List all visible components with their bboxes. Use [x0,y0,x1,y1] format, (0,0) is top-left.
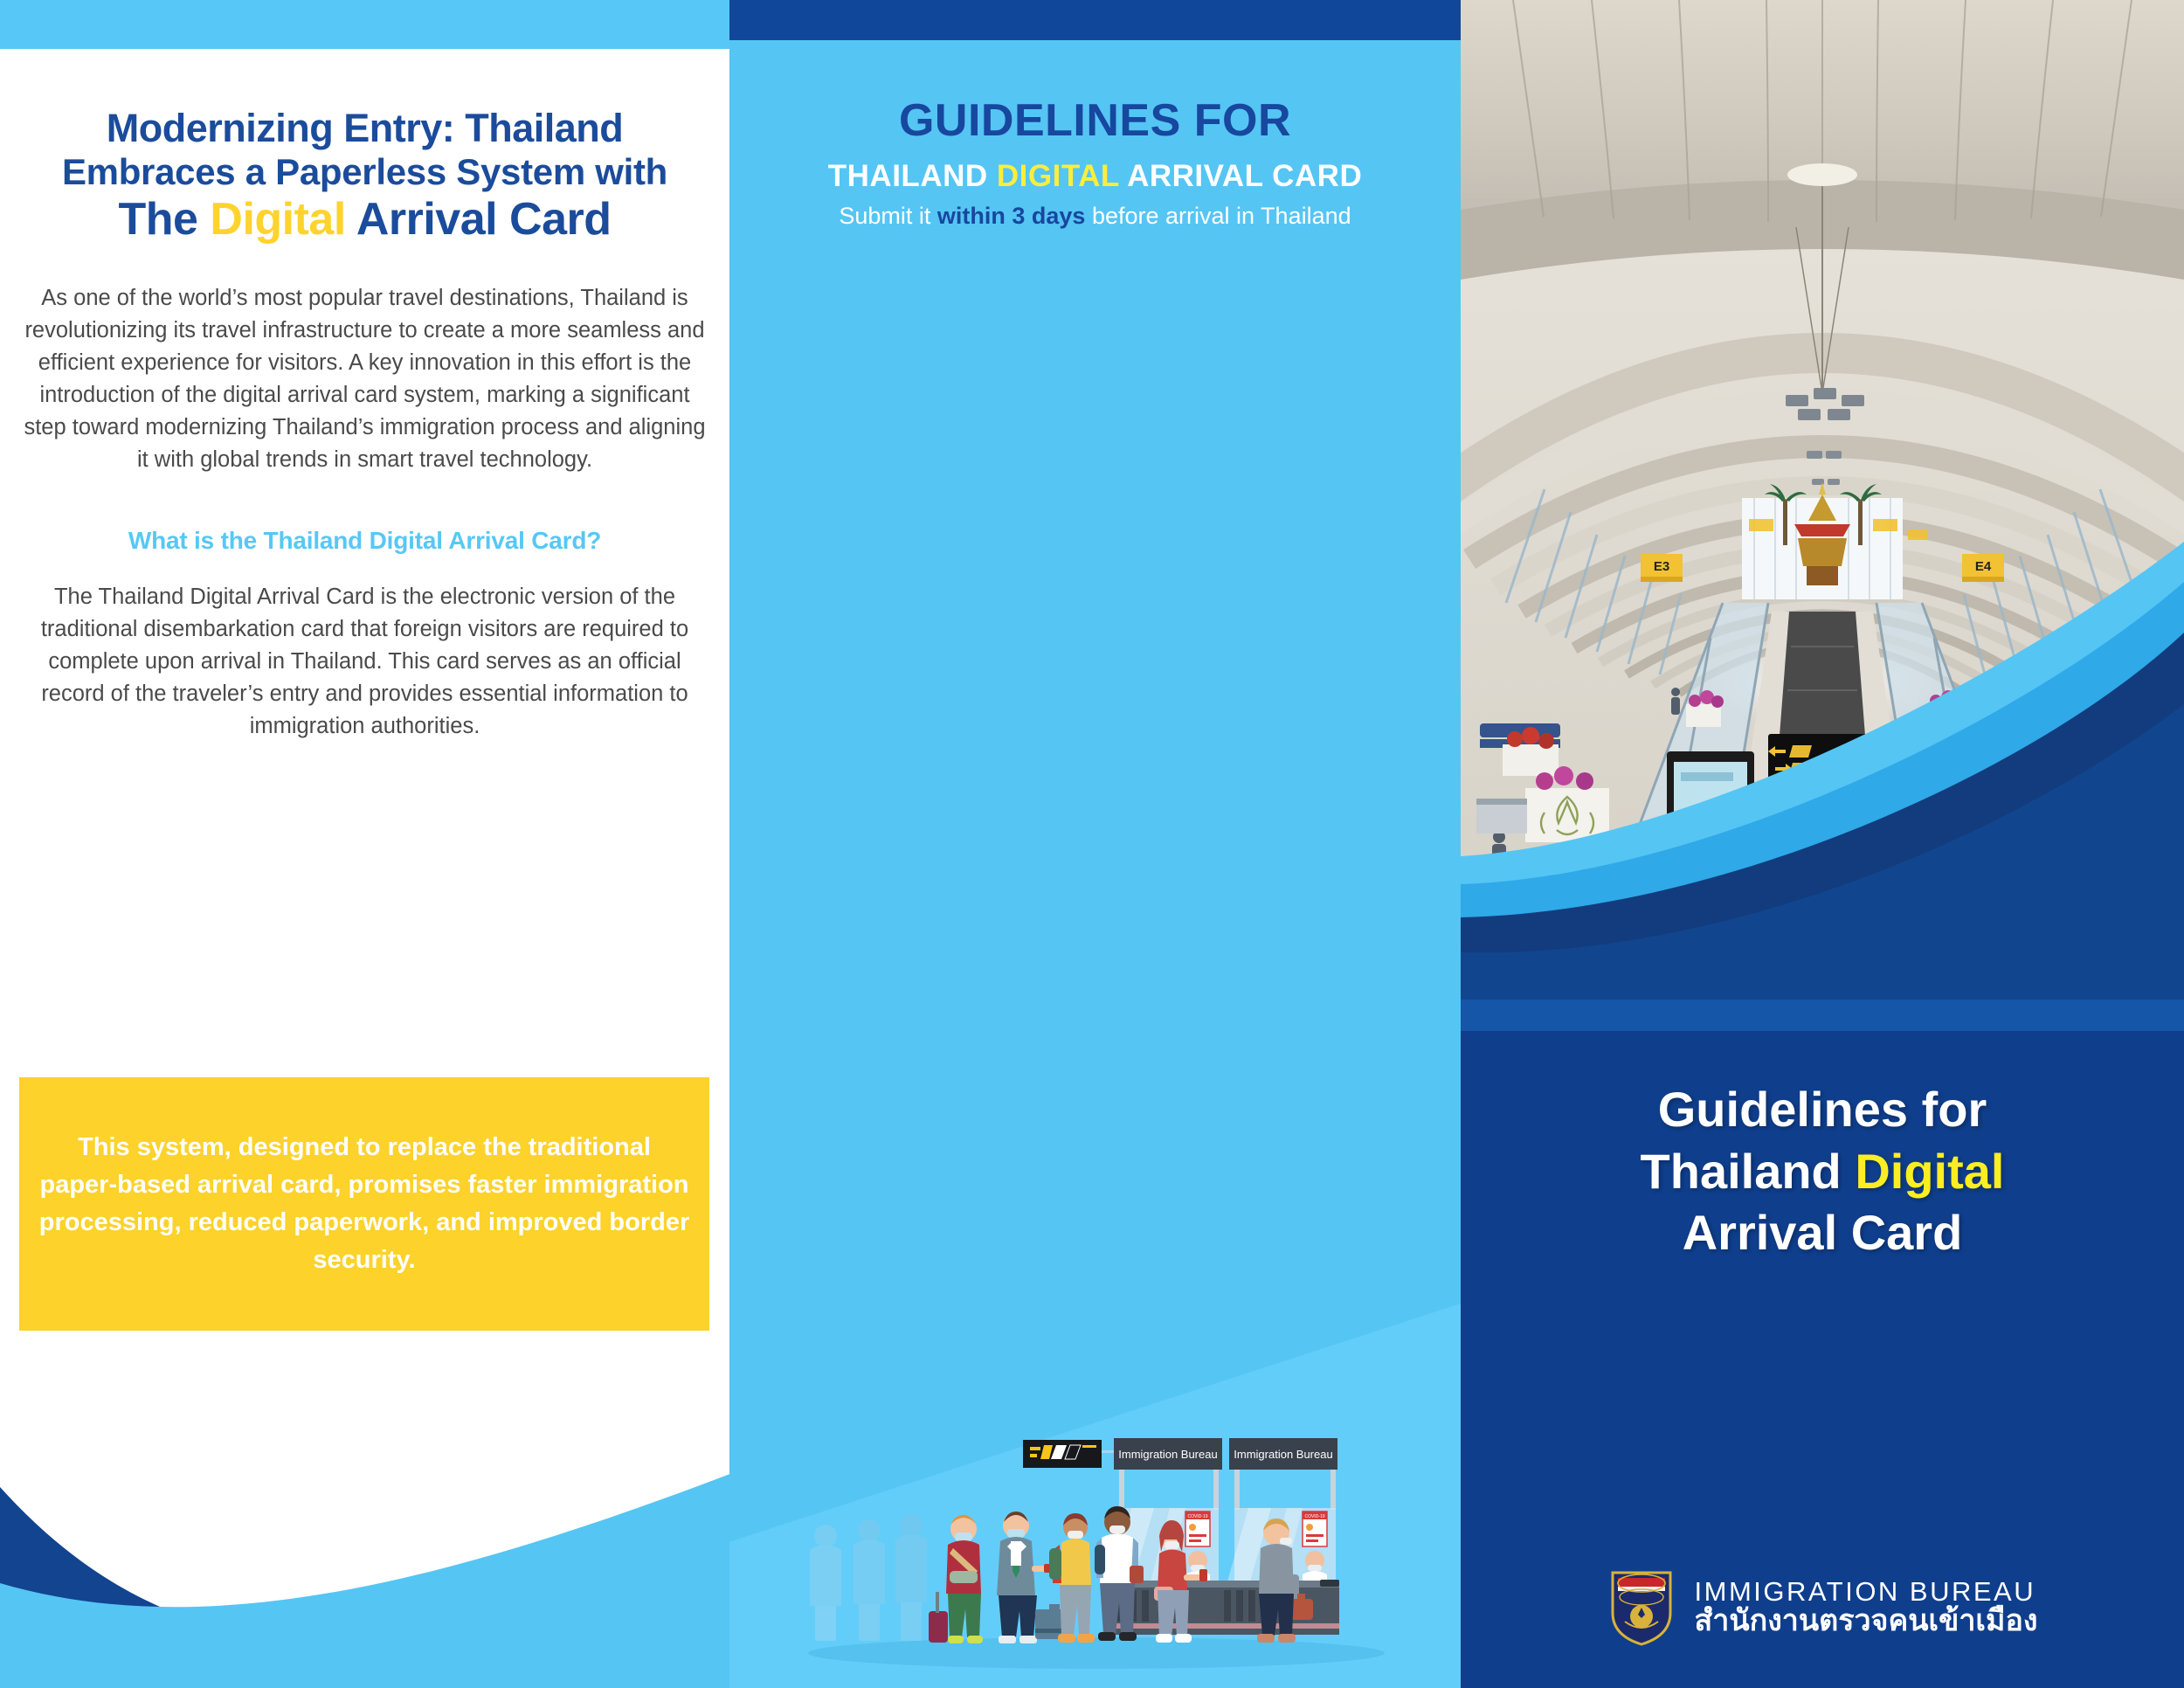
traveler-a [929,1515,983,1643]
left-callout-text: This system, designed to replace the tra… [19,1129,709,1279]
subtitle-highlight: DIGITAL [997,159,1119,193]
covid-poster-1-label: COVID-19 [1187,1514,1207,1519]
subtitle-a: THAILAND [828,159,997,193]
covid-poster-2-label: COVID-19 [1304,1514,1324,1519]
subtitle-b: ARRIVAL CARD [1119,159,1362,193]
immigration-queue-illustration: Immigration Bureau Immigration Bureau [782,1421,1411,1683]
guidelines-subtitle: THAILAND DIGITAL ARRIVAL CARD [729,159,1461,194]
guidelines-title: GUIDELINES FOR [729,94,1461,147]
counter-sign-2: Immigration Bureau [1229,1438,1337,1470]
covid-poster-1: COVID-19 [1185,1512,1210,1546]
deadline-bold: within 3 days [937,203,1086,229]
logo-text-block: IMMIGRATION BUREAU สำนักงานตรวจคนเข้าเมื… [1695,1578,2038,1637]
logo-text-en: IMMIGRATION BUREAU [1695,1578,2038,1607]
headline-line-3: The Digital Arrival Card [19,194,710,246]
left-panel: Modernizing Entry: Thailand Embraces a P… [0,0,729,1688]
headline-line-1: Modernizing Entry: Thailand [19,107,710,151]
right-panel-wave-decoration [1461,542,2184,1031]
brochure-page: Modernizing Entry: Thailand Embraces a P… [0,0,2184,1688]
right-title-line-2-highlight: Digital [1855,1144,2004,1199]
deadline-a: Submit it [839,203,937,229]
right-title-line-2-a: Thailand [1641,1144,1856,1199]
deadline-c: before arrival in Thailand [1085,203,1351,229]
left-subheading: What is the Thailand Digital Arrival Car… [16,527,714,555]
headline-line-3-highlight: Digital [210,194,345,245]
left-callout-box: This system, designed to replace the tra… [19,1077,709,1331]
headline-line-3-a: The [118,194,210,245]
left-headline: Modernizing Entry: Thailand Embraces a P… [19,107,710,246]
counter-sign-2-label: Immigration Bureau [1234,1448,1332,1461]
left-definition-paragraph: The Thailand Digital Arrival Card is the… [14,581,715,743]
left-bottom-wave-decoration [0,1321,729,1688]
headline-line-3-b: Arrival Card [346,194,612,245]
covid-poster-2: COVID-19 [1303,1512,1327,1546]
right-title-line-3: Arrival Card [1461,1202,2184,1264]
middle-panel: GUIDELINES FOR THAILAND DIGITAL ARRIVAL … [729,0,1461,1688]
guidelines-deadline-note: Submit it within 3 days before arrival i… [729,203,1461,230]
right-panel: E3 E4 [1461,0,2184,1688]
immigration-bureau-shield-icon [1607,1567,1676,1648]
exit-sign-icon [1023,1440,1121,1468]
right-title-line-1: Guidelines for [1461,1079,2184,1141]
counter-sign-1: Immigration Bureau [1114,1438,1222,1470]
logo-text-th: สำนักงานตรวจคนเข้าเมือง [1695,1606,2038,1637]
guidelines-header: GUIDELINES FOR THAILAND DIGITAL ARRIVAL … [729,94,1461,230]
right-panel-title: Guidelines for Thailand Digital Arrival … [1461,1079,2184,1264]
headline-line-2: Embraces a Paperless System with [19,151,710,192]
immigration-bureau-logo: IMMIGRATION BUREAU สำนักงานตรวจคนเข้าเมื… [1461,1567,2184,1648]
right-title-line-2: Thailand Digital [1461,1141,2184,1203]
middle-top-band [729,0,1461,40]
left-intro-paragraph: As one of the world’s most popular trave… [16,282,714,476]
left-top-strip [0,0,729,49]
queue-background-travelers [810,1514,927,1641]
counter-sign-1-label: Immigration Bureau [1118,1448,1217,1461]
